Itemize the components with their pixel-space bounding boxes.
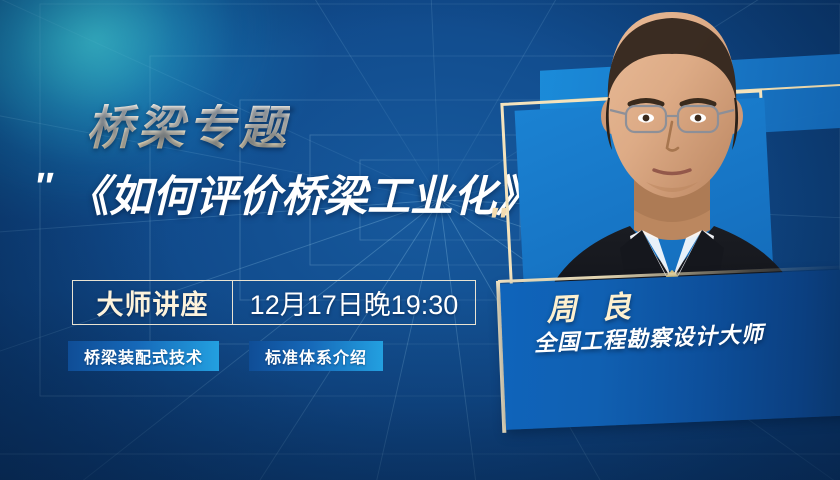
lecture-datetime: 12月17日晚19:30 bbox=[233, 281, 475, 324]
lecture-info-bar: 大师讲座 12月17日晚19:30 bbox=[72, 280, 476, 325]
poster-canvas: ″ 桥梁专题 《如何评价桥梁工业化》 ″ 大师讲座 12月17日晚19:30 桥… bbox=[0, 0, 840, 480]
speaker-block: 周 良 全国工程勘察设计大师 bbox=[490, 0, 840, 480]
topic-tag[interactable]: 标准体系介绍 bbox=[249, 341, 383, 371]
topic-tag-list: 桥梁装配式技术 标准体系介绍 bbox=[68, 341, 383, 371]
speaker-name-text-group: 周 良 全国工程勘察设计大师 bbox=[532, 283, 840, 356]
page-title: 桥梁专题 bbox=[86, 104, 290, 151]
headline-block: ″ 桥梁专题 《如何评价桥梁工业化》 ″ 大师讲座 12月17日晚19:30 桥… bbox=[0, 0, 540, 480]
lecture-category-label: 大师讲座 bbox=[73, 281, 233, 324]
page-subtitle: 《如何评价桥梁工业化》 bbox=[66, 176, 539, 219]
topic-tag[interactable]: 桥梁装配式技术 bbox=[68, 341, 219, 371]
quote-open-icon: ″ bbox=[34, 168, 48, 206]
